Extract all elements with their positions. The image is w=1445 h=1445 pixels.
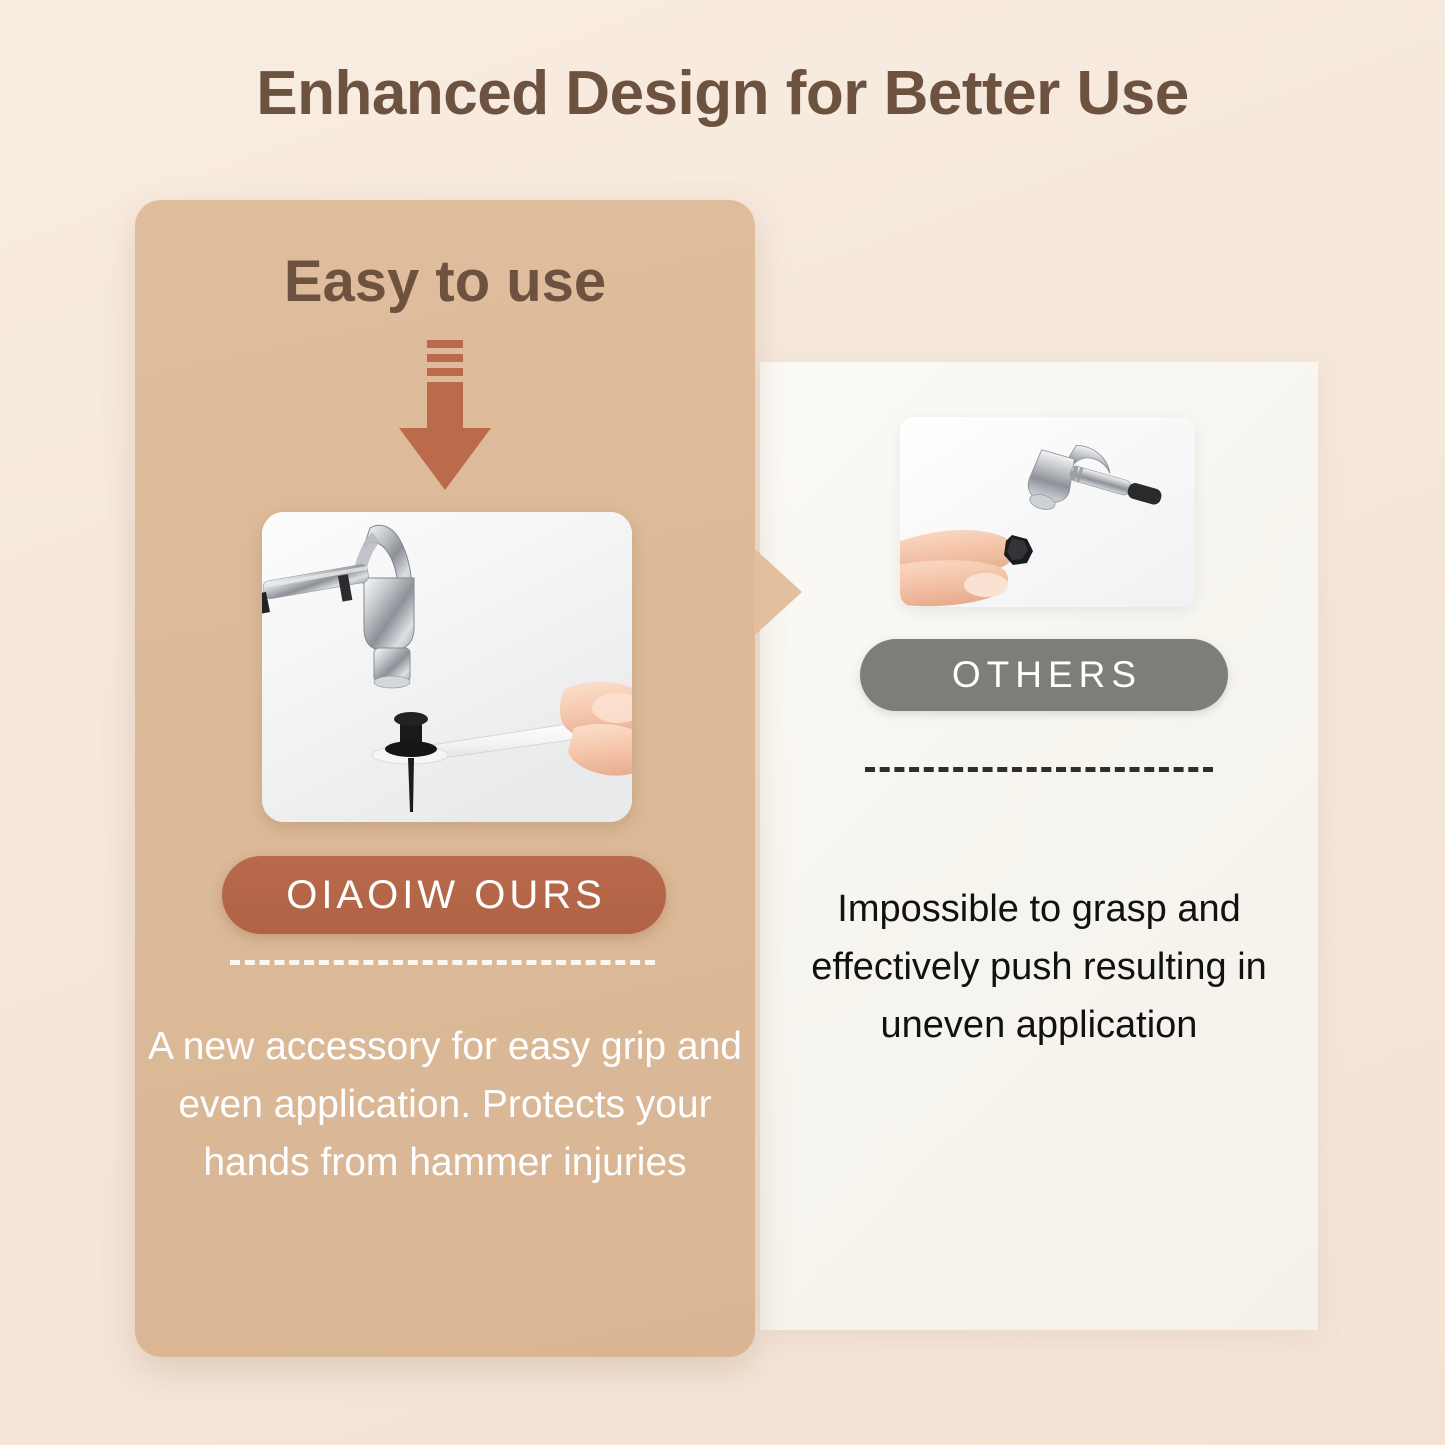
ours-divider	[230, 960, 655, 965]
infographic-canvas: Enhanced Design for Better Use	[0, 0, 1445, 1445]
right-pointer-icon	[754, 548, 802, 636]
others-product-photo	[900, 417, 1195, 607]
others-card: OTHERS Impossible to grasp and effective…	[760, 362, 1318, 1330]
others-description: Impossible to grasp and effectively push…	[800, 880, 1278, 1054]
others-divider	[865, 767, 1213, 772]
down-arrow-glyph	[393, 340, 497, 492]
ours-photo-illustration	[262, 512, 632, 822]
ours-card: Easy to use	[135, 200, 755, 1357]
others-badge-label: OTHERS	[946, 654, 1142, 696]
page-title: Enhanced Design for Better Use	[0, 58, 1445, 129]
down-arrow-icon	[393, 340, 497, 492]
others-badge: OTHERS	[860, 639, 1228, 711]
ours-heading: Easy to use	[135, 248, 755, 315]
ours-product-photo	[262, 512, 632, 822]
ours-badge-label: OIAOIW OURS	[282, 873, 606, 918]
ours-badge: OIAOIW OURS	[222, 856, 666, 934]
others-photo-illustration	[900, 417, 1195, 607]
ours-description: A new accessory for easy grip and even a…	[145, 1018, 745, 1192]
